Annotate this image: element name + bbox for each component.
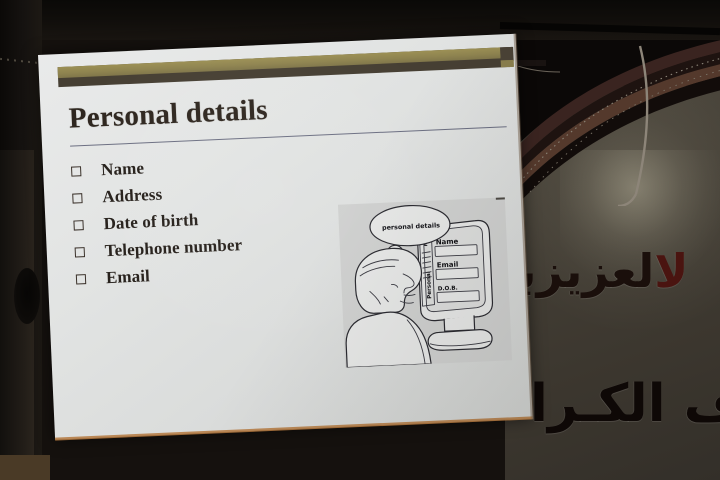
svg-text:Personal: Personal bbox=[426, 271, 433, 299]
projection-screen-assembly: Personal details Name Address Date of bi… bbox=[0, 0, 720, 480]
square-bullet-icon bbox=[71, 166, 81, 176]
photo-scene: لالعزيزبا ف الكـرا Personal details Name… bbox=[0, 0, 720, 480]
bullet-label: Email bbox=[106, 266, 151, 288]
slide-clipart-image: Name Email D.O.B. E Personal bbox=[338, 197, 512, 367]
bullet-label: Address bbox=[102, 184, 163, 207]
square-bullet-icon bbox=[76, 274, 86, 284]
bullet-label: Date of birth bbox=[103, 210, 199, 234]
square-bullet-icon bbox=[73, 220, 83, 230]
bullet-label: Name bbox=[101, 158, 145, 180]
square-bullet-icon bbox=[72, 193, 82, 203]
slide-bullet-list: Name Address Date of birth Telephone num… bbox=[71, 144, 377, 292]
clipart-corner-tick bbox=[496, 197, 505, 199]
svg-text:Email: Email bbox=[437, 261, 459, 270]
square-bullet-icon bbox=[75, 247, 85, 257]
bullet-label: Telephone number bbox=[104, 235, 242, 261]
slide-header-end-block-gold bbox=[501, 60, 514, 68]
